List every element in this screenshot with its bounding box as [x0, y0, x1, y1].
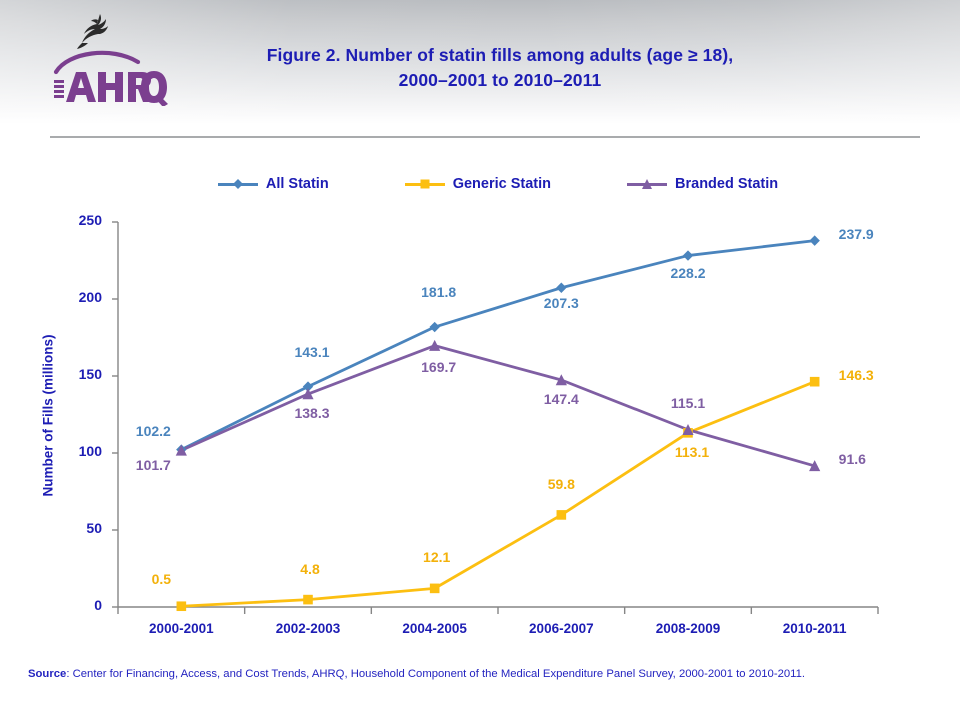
x-axis-tick-label: 2008-2009: [628, 621, 748, 636]
data-point-label: 237.9: [839, 226, 899, 242]
y-axis-tick-label: 50: [56, 520, 102, 536]
data-point-label: 146.3: [839, 367, 899, 383]
source-note: Source: Center for Financing, Access, an…: [28, 668, 933, 680]
x-axis-tick-label: 2004-2005: [375, 621, 495, 636]
data-point-marker: [557, 510, 567, 520]
chart-canvas: [0, 0, 960, 720]
data-point-label: 91.6: [839, 451, 899, 467]
data-point-label: 12.1: [407, 549, 467, 565]
data-point-label: 101.7: [123, 457, 183, 473]
data-point-label: 102.2: [123, 423, 183, 439]
x-axis-tick-label: 2002-2003: [248, 621, 368, 636]
data-point-label: 113.1: [662, 444, 722, 460]
data-point-label: 228.2: [658, 265, 718, 281]
data-point-marker: [429, 322, 439, 332]
data-point-label: 115.1: [658, 395, 718, 411]
data-point-marker: [303, 595, 313, 605]
source-note-text: : Center for Financing, Access, and Cost…: [66, 668, 805, 680]
data-point-label: 59.8: [531, 476, 591, 492]
data-point-label: 207.3: [531, 295, 591, 311]
data-point-marker: [810, 377, 820, 387]
data-point-label: 138.3: [282, 405, 342, 421]
data-point-label: 0.5: [131, 571, 191, 587]
data-point-marker: [430, 584, 440, 594]
y-axis-tick-label: 100: [56, 443, 102, 459]
y-axis-tick-label: 250: [56, 212, 102, 228]
x-axis-tick-label: 2000-2001: [121, 621, 241, 636]
data-point-marker: [177, 601, 187, 611]
data-point-marker: [809, 235, 819, 245]
data-point-label: 181.8: [409, 284, 469, 300]
x-axis-tick-label: 2010-2011: [755, 621, 875, 636]
x-axis-tick-label: 2006-2007: [501, 621, 621, 636]
source-note-prefix: Source: [28, 668, 66, 680]
data-point-marker: [556, 283, 566, 293]
data-point-label: 143.1: [282, 344, 342, 360]
figure-page: Figure 2. Number of statin fills among a…: [0, 0, 960, 720]
data-point-label: 169.7: [409, 359, 469, 375]
y-axis-tick-label: 150: [56, 366, 102, 382]
data-point-label: 4.8: [280, 561, 340, 577]
chart-plot-area: Number of Fills (millions) 0501001502002…: [0, 0, 960, 720]
y-axis-tick-label: 0: [56, 597, 102, 613]
data-point-label: 147.4: [531, 391, 591, 407]
y-axis-tick-label: 200: [56, 289, 102, 305]
data-point-marker: [683, 250, 693, 260]
